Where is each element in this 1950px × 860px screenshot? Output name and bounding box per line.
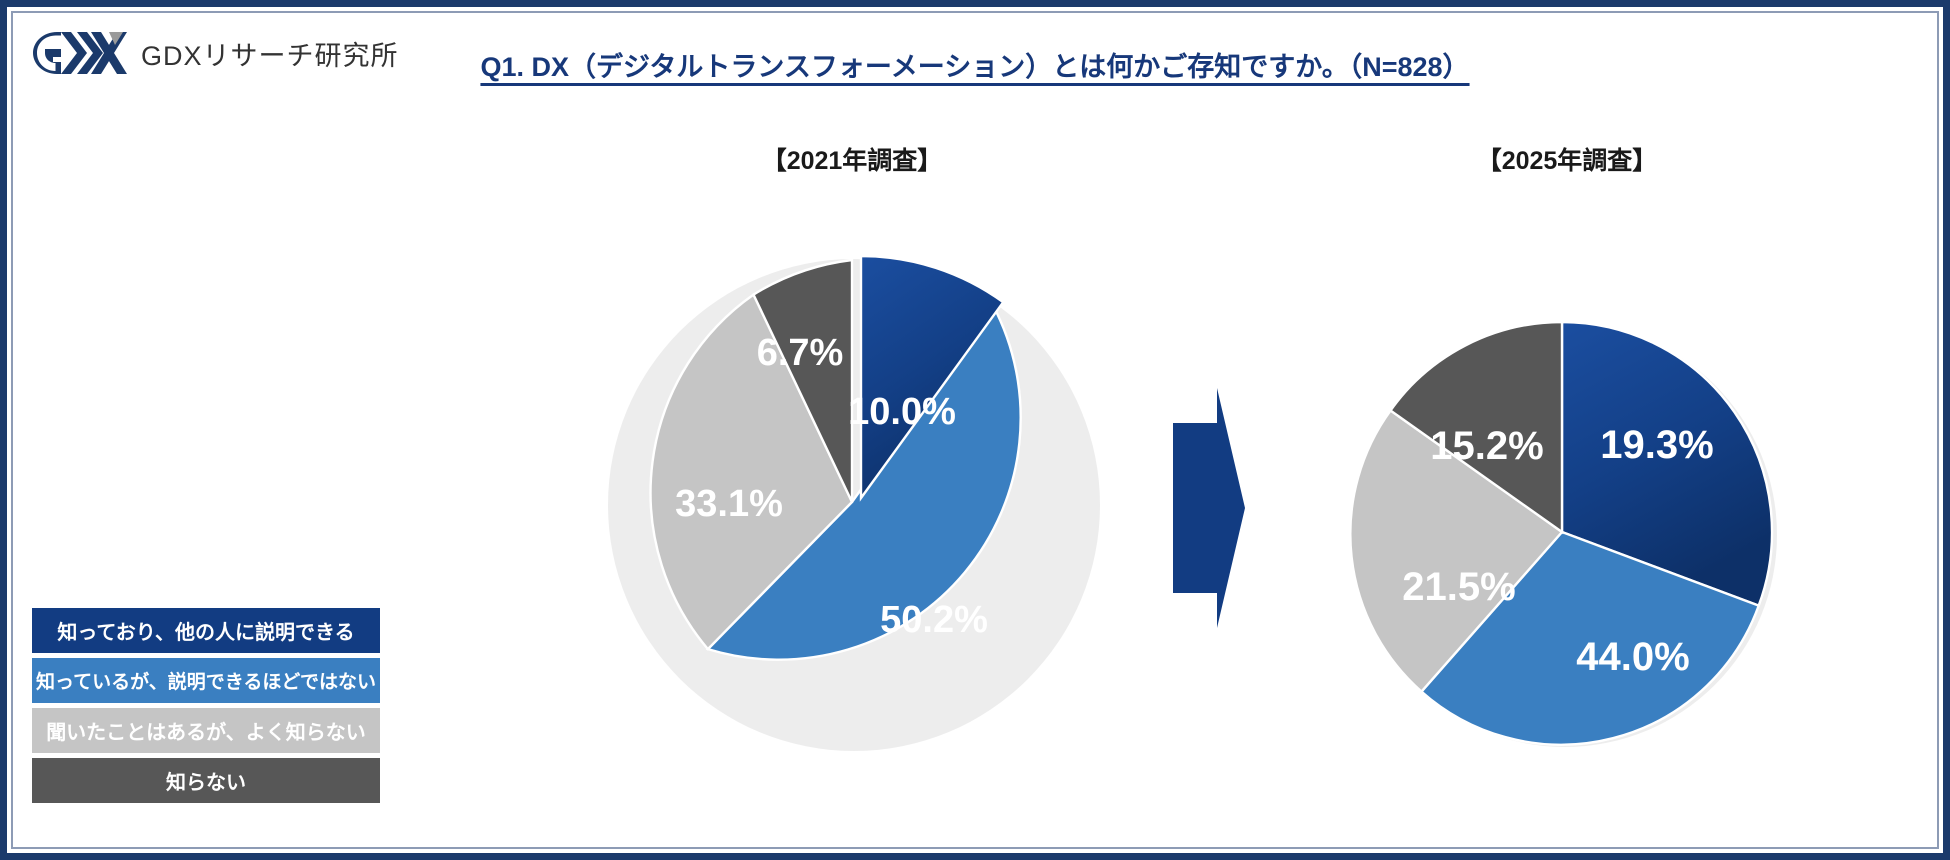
pie-2025-svg: 19.3% 44.0% 21.5% 15.2% [1347, 317, 1777, 747]
legend-item-0-label: 知っており、他の人に説明できる [57, 616, 354, 645]
transition-arrow [1153, 388, 1245, 628]
pie-2025-label-navy: 19.3% [1600, 423, 1713, 467]
pie-2025-label-lightgray: 21.5% [1402, 565, 1515, 609]
page-title: Q1. DX（デジタルトランスフォーメーション）とは何かご存知ですか。（N=82… [7, 45, 1943, 84]
pie-2021-label-navy: 10.0% [848, 391, 956, 433]
chart-title-2021: 【2021年調査】 [582, 141, 1122, 177]
legend: 知っており、他の人に説明できる 知っているが、説明できるほどではない 聞いたこと… [32, 608, 380, 803]
pie-chart-2025: 19.3% 44.0% 21.5% 15.2% [1347, 317, 1777, 747]
slide-frame: GDXリサーチ研究所 Q1. DX（デジタルトランスフォーメーション）とは何かご… [0, 0, 1950, 860]
pie-2021-svg: 10.0% 50.2% 33.1% 6.7% [572, 222, 1132, 782]
pie-2021-label-blue: 50.2% [880, 599, 988, 641]
chart-title-2025: 【2025年調査】 [1297, 141, 1837, 177]
legend-item-3[interactable]: 知らない [32, 758, 380, 803]
pie-2025-label-blue: 44.0% [1576, 635, 1689, 679]
legend-item-2-label: 聞いたことはあるが、よく知らない [46, 716, 366, 745]
legend-item-2[interactable]: 聞いたことはあるが、よく知らない [32, 708, 380, 753]
pie-2025-label-darkgray: 15.2% [1430, 424, 1543, 468]
pie-chart-2021: 10.0% 50.2% 33.1% 6.7% [572, 222, 1132, 782]
legend-item-3-label: 知らない [166, 766, 246, 795]
pie-2021-label-lightgray: 33.1% [675, 483, 783, 525]
legend-item-0[interactable]: 知っており、他の人に説明できる [32, 608, 380, 653]
legend-item-1-label: 知っているが、説明できるほどではない [36, 667, 376, 694]
right-block-arrow-icon [1153, 388, 1245, 628]
legend-item-1[interactable]: 知っているが、説明できるほどではない [32, 658, 380, 703]
pie-2021-label-darkgray: 6.7% [757, 332, 844, 374]
